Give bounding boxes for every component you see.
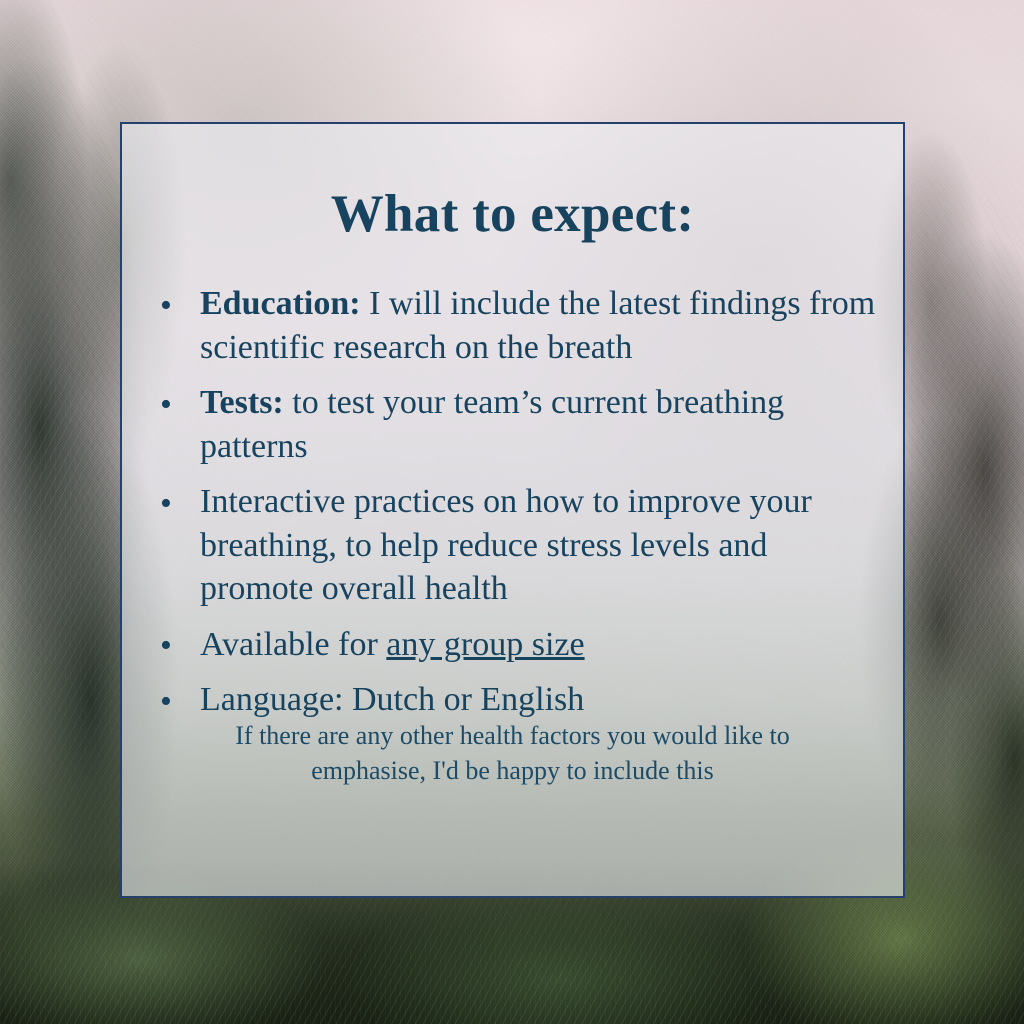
list-item: • Available for any group size <box>140 623 883 667</box>
list-item: • Language: Dutch or English <box>140 678 883 722</box>
footer-note: If there are any other health factors yo… <box>182 719 843 788</box>
list-item-text: Language: Dutch or English <box>200 678 883 722</box>
bullet-point-icon: • <box>160 383 172 427</box>
bullet-point-icon: • <box>160 680 172 724</box>
bullet-point-icon: • <box>160 624 172 668</box>
page-title: What to expect: <box>122 188 903 241</box>
list-item: • Education: I will include the latest f… <box>140 282 883 369</box>
bullet-point-icon: • <box>160 482 172 526</box>
list-item-text: Tests: to test your team’s current breat… <box>200 381 883 468</box>
group-size-emphasis: any group size <box>386 626 584 663</box>
list-item-text: Interactive practices on how to improve … <box>200 480 883 611</box>
list-item-text: Education: I will include the latest fin… <box>200 282 883 369</box>
expectations-list: • Education: I will include the latest f… <box>140 282 883 734</box>
list-item: • Tests: to test your team’s current bre… <box>140 381 883 468</box>
panel-inner: What to expect: • Education: I will incl… <box>122 124 903 896</box>
content-panel: What to expect: • Education: I will incl… <box>120 122 905 898</box>
bullet-point-icon: • <box>160 284 172 328</box>
poster-canvas: What to expect: • Education: I will incl… <box>0 0 1024 1024</box>
list-item-lead: Tests: <box>200 384 284 421</box>
list-item-text: Available for any group size <box>200 623 883 667</box>
list-item-lead: Available for <box>200 626 386 663</box>
list-item-rest: to test your team’s current breathing pa… <box>200 384 784 465</box>
list-item-lead: Education: <box>200 285 361 322</box>
list-item: • Interactive practices on how to improv… <box>140 480 883 611</box>
